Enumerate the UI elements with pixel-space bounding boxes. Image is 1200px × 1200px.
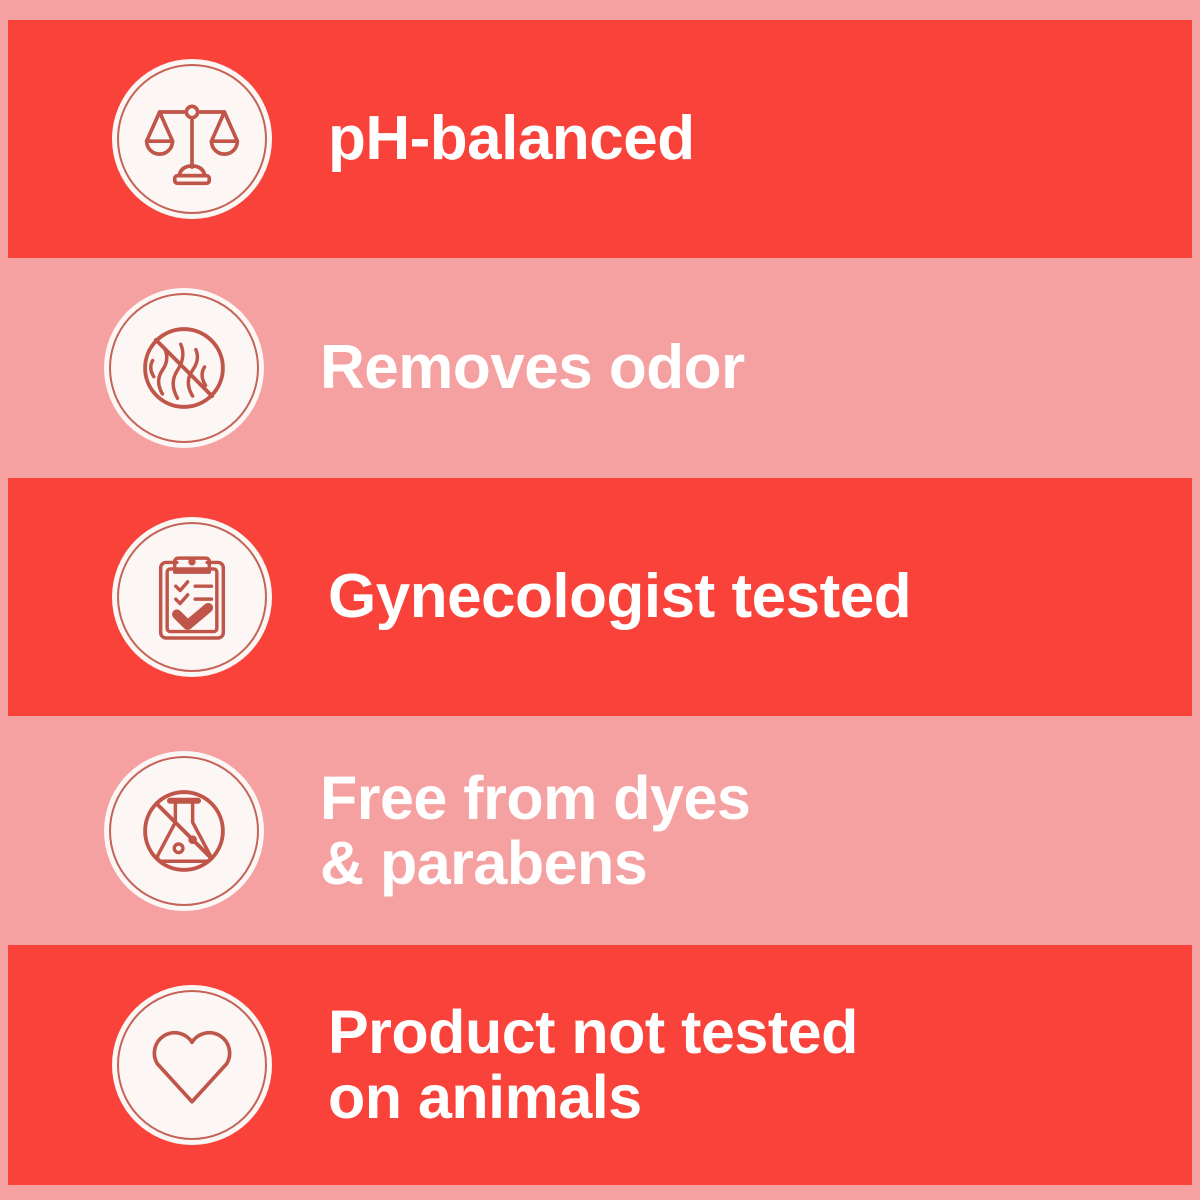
- feature-label: Removes odor: [320, 335, 745, 401]
- feature-label: Product not tested on animals: [328, 1000, 858, 1129]
- heart-icon: [138, 1011, 246, 1119]
- feature-row-removes-odor: Removes odor: [0, 258, 1196, 478]
- feature-icon-badge: [112, 517, 272, 677]
- feature-badges-panel: pH-balanced Removes odor: [0, 0, 1200, 1200]
- feature-row-free-from-dyes-parabens: Free from dyes & parabens: [0, 716, 1196, 945]
- feature-row-product-not-tested-on-animals: Product not tested on animals: [8, 945, 1192, 1185]
- feature-icon-badge: [104, 288, 264, 448]
- feature-icon-badge: [112, 985, 272, 1145]
- feature-label: pH-balanced: [328, 106, 695, 172]
- feature-label: Free from dyes & parabens: [320, 766, 750, 895]
- balance-scale-icon: [138, 85, 246, 193]
- feature-row-ph-balanced: pH-balanced: [8, 20, 1192, 258]
- clipboard-check-icon: [138, 543, 246, 651]
- feature-row-gynecologist-tested: Gynecologist tested: [8, 478, 1192, 716]
- no-odor-icon: [130, 314, 238, 422]
- feature-icon-badge: [112, 59, 272, 219]
- no-flask-icon: [130, 777, 238, 885]
- feature-icon-badge: [104, 751, 264, 911]
- feature-label: Gynecologist tested: [328, 564, 911, 630]
